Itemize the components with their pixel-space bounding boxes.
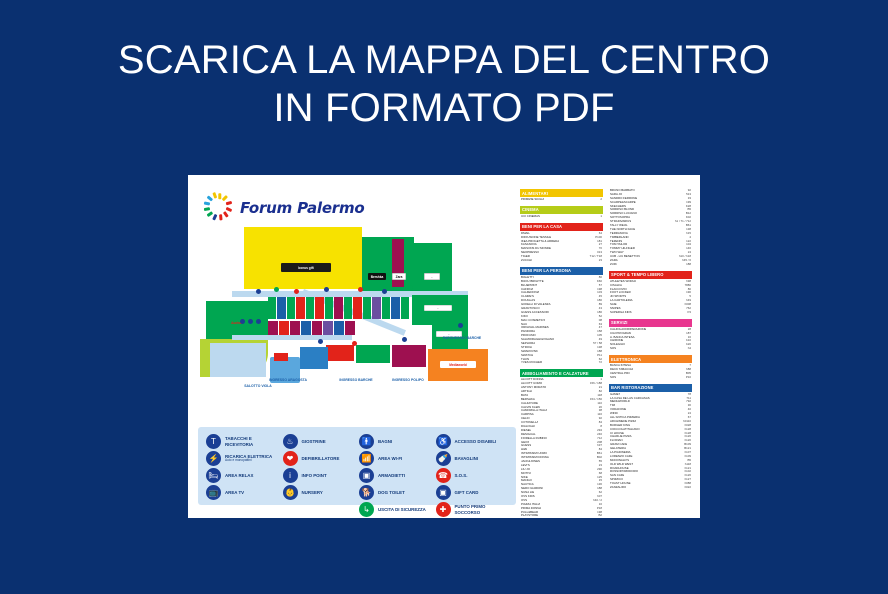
directory-category-header: BENI PER LA CASA <box>520 223 603 231</box>
legend-item-ricarica-elettrica[interactable]: ⚡ RICARICA ELETTRICAAuto e monopattini <box>206 451 279 466</box>
directory-category: BRUNO BARBATO92SARA JO513SANDRO FERRONE3… <box>609 189 692 267</box>
legend-label: AREA TV <box>225 490 244 495</box>
directory-category: SERVIZICALZOLAIO/RIPARAZIONE28CIAI PROGR… <box>609 319 692 351</box>
shop-strip-lower-1[interactable] <box>268 321 278 335</box>
shop-label-right-1[interactable]: . <box>424 305 452 311</box>
directory-category: ALIMENTARIPRIMIZIE SICILIA2 <box>520 189 603 202</box>
shop-strip-lower-2[interactable] <box>279 321 289 335</box>
poi-exit2-icon[interactable] <box>408 285 413 290</box>
directory-entry[interactable]: SOSP10 <box>609 376 692 380</box>
directory-category-header: ABBIGLIAMENTO E CALZATURE <box>520 369 603 377</box>
poi-tv-icon[interactable] <box>248 319 253 324</box>
logo-text: Forum Palermo <box>240 199 365 217</box>
legend-item-nursery[interactable]: 👶 NURSERY <box>283 485 356 500</box>
parking-area-right[interactable] <box>300 347 328 369</box>
legend-item-accesso-disabili[interactable]: ♿ ACCESSO DISABILI <box>436 434 509 449</box>
legend-item-armadietti[interactable]: ▣ ARMADIETTI <box>359 468 432 483</box>
shop-strip-lower-4[interactable] <box>301 321 311 335</box>
shop-strip-lower-5[interactable] <box>312 321 322 335</box>
directory-entry-unit: P4 <box>685 311 691 315</box>
shop-strip-row-10[interactable] <box>353 297 362 319</box>
shop-strip-row-7[interactable] <box>325 297 333 319</box>
legend-label: AREA RELAX <box>225 473 253 478</box>
directory-entry-unit: 2 <box>598 198 602 202</box>
defibrillator-icon: ❤ <box>283 451 298 466</box>
legend-label: GIFT CARD <box>455 490 479 495</box>
shop-strip-row-12[interactable] <box>372 297 381 319</box>
shop-strip-row-13[interactable] <box>382 297 390 319</box>
phone-sos-icon: ☎ <box>436 468 451 483</box>
legend-label: ACCESSO DISABILI <box>455 439 497 444</box>
directory-entry-name: SOS <box>610 347 616 351</box>
poi-giftcard-icon[interactable] <box>402 337 407 342</box>
legend-label: BAVAGLINI <box>455 456 479 461</box>
legend-item-uscita-sicurezza[interactable]: ↳ USCITA DI SICUREZZA <box>359 502 432 517</box>
directory-entry-name: YVES ROCHER <box>521 361 542 365</box>
directory-entry[interactable]: SOSh4 <box>609 347 692 351</box>
wheelchair-icon: ♿ <box>436 434 451 449</box>
page-title-line-2: IN FORMATO PDF <box>0 84 888 132</box>
parking-area-salotto-viola[interactable] <box>274 353 288 361</box>
corridor-walkway-lower <box>232 335 352 340</box>
mall-map-card[interactable]: Forum Palermo bonus gift Bershka Zara . … <box>188 175 700 518</box>
anchor-block-green-a[interactable] <box>362 237 414 295</box>
locker-icon: ▣ <box>359 468 374 483</box>
shop-strip-row-4[interactable] <box>296 297 305 319</box>
directory-category: SPORT & TEMPO LIBEROATHLETES WORLDh98CIS… <box>609 271 692 315</box>
directory-category: ABBIGLIAMENTO E CALZATUREALCOTT DONNA1AL… <box>520 369 603 518</box>
legend-item-defibrillatore[interactable]: ❤ DEFIBRILLATORE <box>283 451 356 466</box>
anchor-label-bershka[interactable]: Bershka <box>368 273 386 280</box>
shop-strip-row-11[interactable] <box>363 297 371 319</box>
shop-block-green-bottom[interactable] <box>356 345 390 363</box>
mall-floor-plan[interactable]: bonus gift Bershka Zara . Auchan M <box>196 227 516 427</box>
directory-entry-name: ZUCCHI <box>521 259 532 263</box>
directory-category-header: BENI PER LA PERSONA <box>520 267 603 275</box>
directory-entry-unit: B2 <box>596 514 602 518</box>
shop-strip-row-5[interactable] <box>306 297 314 319</box>
legend-item-gift-card[interactable]: ▣ GIFT CARD <box>436 485 509 500</box>
directory-entry[interactable]: SUPERGA KIDSP4 <box>609 311 692 315</box>
directory-entry-name: PLAYSTORE <box>521 514 538 518</box>
shop-strip-row-1[interactable] <box>268 297 276 319</box>
legend-item-primo-soccorso[interactable]: ✚ PUNTO PRIMO SOCCORSO <box>436 502 509 517</box>
poi-relax-icon[interactable] <box>256 319 261 324</box>
legend-item-bagni[interactable]: 🚹 BAGNI <box>359 434 432 449</box>
legend-label: NURSERY <box>302 490 323 495</box>
shop-strip-lower-7[interactable] <box>334 321 344 335</box>
baby-bib-icon: 🍼 <box>436 451 451 466</box>
legend-item-area-relax[interactable]: 🛏 AREA RELAX <box>206 468 279 483</box>
legend-item-wifi[interactable]: 📶 AREA WI-FI <box>359 451 432 466</box>
services-legend: T TABACCHI E RICEVITORIA ♨ GIOSTRINE 🚹 B… <box>198 427 516 505</box>
legend-label: AREA WI-FI <box>378 456 402 461</box>
directory-entry[interactable]: ZANZALIROh022 <box>609 486 692 490</box>
entrance-label-aragosta: INGRESSO ARAGOSTA <box>268 379 308 383</box>
anchor-block-green-b[interactable] <box>414 243 452 295</box>
legend-item-sos[interactable]: ☎ S.O.S. <box>436 468 509 483</box>
legend-label: USCITA DI SICUREZZA <box>378 507 426 512</box>
legend-label: INFO POINT <box>302 473 327 478</box>
directory-category-header: BAR RISTORAZIONE <box>609 384 692 392</box>
directory-entry-unit: h022 <box>683 486 691 490</box>
legend-item-area-tv[interactable]: 📺 AREA TV <box>206 485 279 500</box>
legend-item-giostrine[interactable]: ♨ GIOSTRINE <box>283 434 356 449</box>
page-title: SCARICA LA MAPPA DEL CENTRO IN FORMATO P… <box>0 36 888 132</box>
directory-category-header: SPORT & TEMPO LIBERO <box>609 271 692 279</box>
area-label-salotto-viola: SALOTTO VIOLA <box>238 385 278 389</box>
gift-card-icon: ▣ <box>436 485 451 500</box>
shop-strip-lower-8[interactable] <box>345 321 355 335</box>
poi-info-icon[interactable] <box>324 287 329 292</box>
shop-strip-row-14[interactable] <box>391 297 400 319</box>
sofa-icon: 🛏 <box>206 468 221 483</box>
poi-firstaid-icon[interactable] <box>358 287 363 292</box>
shop-strip-row-6[interactable] <box>315 297 324 319</box>
shop-block-dark-red-1[interactable] <box>392 345 426 367</box>
legend-label: GIOSTRINE <box>302 439 326 444</box>
anchor-label-zara[interactable]: Zara <box>392 273 406 280</box>
legend-label: S.O.S. <box>455 473 468 478</box>
first-aid-icon: ✚ <box>436 502 451 517</box>
wifi-icon: 📶 <box>359 451 374 466</box>
poi-exit-icon[interactable] <box>274 287 279 292</box>
shop-strip-row-15[interactable] <box>401 297 409 319</box>
directory-entry[interactable]: UCI CINEMAS1 <box>520 215 603 219</box>
directory-entry-name: SOS <box>610 376 616 380</box>
legend-item-dog-toilet[interactable]: 🐕 DOG TOILET <box>359 485 432 500</box>
directory-entry-name: SUPERGA KIDS <box>610 311 632 315</box>
tv-icon: 📺 <box>206 485 221 500</box>
parking-area-center[interactable] <box>210 343 266 377</box>
poi-lift-icon[interactable] <box>382 289 387 294</box>
directory-entry-name: UCI CINEMAS <box>521 215 540 219</box>
forum-palermo-logo: Forum Palermo <box>204 193 365 223</box>
legend-label: DOG TOILET <box>378 490 405 495</box>
directory-entry-unit: h4 <box>686 347 691 351</box>
shop-strip-row-3[interactable] <box>287 297 295 319</box>
shop-strip-lower-3[interactable] <box>290 321 300 335</box>
page-title-line-1: SCARICA LA MAPPA DEL CENTRO <box>0 36 888 84</box>
anchor-label-bonus-gift[interactable]: bonus gift <box>281 263 331 272</box>
directory-entry-unit: 72 <box>597 361 602 365</box>
poi-nursery-icon[interactable] <box>318 339 323 344</box>
legend-label: DEFIBRILLATORE <box>302 456 340 461</box>
poi-restroom-icon[interactable] <box>256 289 261 294</box>
directory-entry[interactable]: PLAYSTOREB2 <box>520 514 603 518</box>
poi-parking-icon[interactable] <box>458 323 463 328</box>
legend-label: RICARICA ELETTRICAAuto e monopattini <box>225 454 272 463</box>
legend-label: TABACCHI E RICEVITORIA <box>225 436 279 447</box>
legend-item-info-point[interactable]: i INFO POINT <box>283 468 356 483</box>
directory-entry[interactable]: PRIMIZIE SICILIA2 <box>520 198 603 202</box>
dog-toilet-icon: 🐕 <box>359 485 374 500</box>
ev-charge-icon: ⚡ <box>206 451 221 466</box>
tobacco-icon: T <box>206 434 221 449</box>
directory-category: BAR RISTORAZIONEGAME778LA CASA DE LAS CA… <box>609 384 692 490</box>
shop-strip-row-9[interactable] <box>344 297 352 319</box>
legend-item-tabacchi[interactable]: T TABACCHI E RICEVITORIA <box>206 434 279 449</box>
directory-entry-unit: 188 <box>684 263 691 267</box>
poi-defib-icon[interactable] <box>352 341 357 346</box>
anchor-block-hypermarket[interactable] <box>244 227 362 289</box>
directory-entry-unit: 1 <box>598 215 602 219</box>
directory-category-header: ALIMENTARI <box>520 189 603 197</box>
shop-block-red-bottom[interactable] <box>326 345 354 361</box>
starburst-icon <box>204 194 234 222</box>
carousel-icon: ♨ <box>283 434 298 449</box>
directory-entry-unit: 23 <box>597 259 602 263</box>
directory-category-header: CINEMA <box>520 206 603 214</box>
anchor-label-mediaworld[interactable]: Mediaworld <box>440 361 476 368</box>
entrance-label-barche: INGRESSO BARCHE <box>336 379 376 383</box>
directory-category: ELETTRONICABANCA INTESA7DECK TABACCHIh88… <box>609 355 692 380</box>
poi-sos-icon[interactable] <box>294 289 299 294</box>
legend-label: PUNTO PRIMO SOCCORSO <box>455 504 509 515</box>
directory-entry-unit: P10 <box>684 376 691 380</box>
directory-entry-name: PRIMIZIE SICILIA <box>521 198 544 202</box>
directory-column-left: ALIMENTARIPRIMIZIE SICILIA2CINEMAUCI CIN… <box>520 189 603 507</box>
legend-label: ARMADIETTI <box>378 473 405 478</box>
directory-entry-name: ZANZALIRO <box>610 486 626 490</box>
directory-category: BENI PER LA CASADMAIL64DIFFUSIONE TESSIL… <box>520 223 603 263</box>
info-icon: i <box>283 468 298 483</box>
legend-sublabel: Auto e monopattini <box>225 459 272 463</box>
shop-strip-row-8[interactable] <box>334 297 343 319</box>
legend-label: BAGNI <box>378 439 392 444</box>
legend-item-bavaglini[interactable]: 🍼 BAVAGLINI <box>436 451 509 466</box>
directory-entry[interactable]: ZUIKI188 <box>609 263 692 267</box>
directory-category: BENI PER LA PERSONABIALETTI80BIJOU BRIGI… <box>520 267 603 365</box>
shop-strip-lower-6[interactable] <box>323 321 333 335</box>
parking-label-barche: PARCHEGGIO BARCHE <box>440 337 484 341</box>
anchor-label-extra[interactable]: . <box>424 273 440 280</box>
directory-column-right: BRUNO BARBATO92SARA JO513SANDRO FERRONE3… <box>609 189 692 507</box>
directory-entry[interactable]: ZUCCHI23 <box>520 259 603 263</box>
emergency-exit-icon: ↳ <box>359 502 374 517</box>
restroom-icon: 🚹 <box>359 434 374 449</box>
entrance-label-polipo: INGRESSO POLIPO <box>388 379 428 383</box>
directory-category: CINEMAUCI CINEMAS1 <box>520 206 603 219</box>
directory-entry-name: ZUIKI <box>610 263 617 267</box>
store-directory[interactable]: ALIMENTARIPRIMIZIE SICILIA2CINEMAUCI CIN… <box>520 189 692 507</box>
poi-wifi-icon[interactable] <box>240 319 245 324</box>
directory-category-header: SERVIZI <box>609 319 692 327</box>
directory-category-header: ELETTRONICA <box>609 355 692 363</box>
shop-strip-row-2[interactable] <box>277 297 286 319</box>
directory-entry[interactable]: YVES ROCHER72 <box>520 361 603 365</box>
nursery-icon: 👶 <box>283 485 298 500</box>
